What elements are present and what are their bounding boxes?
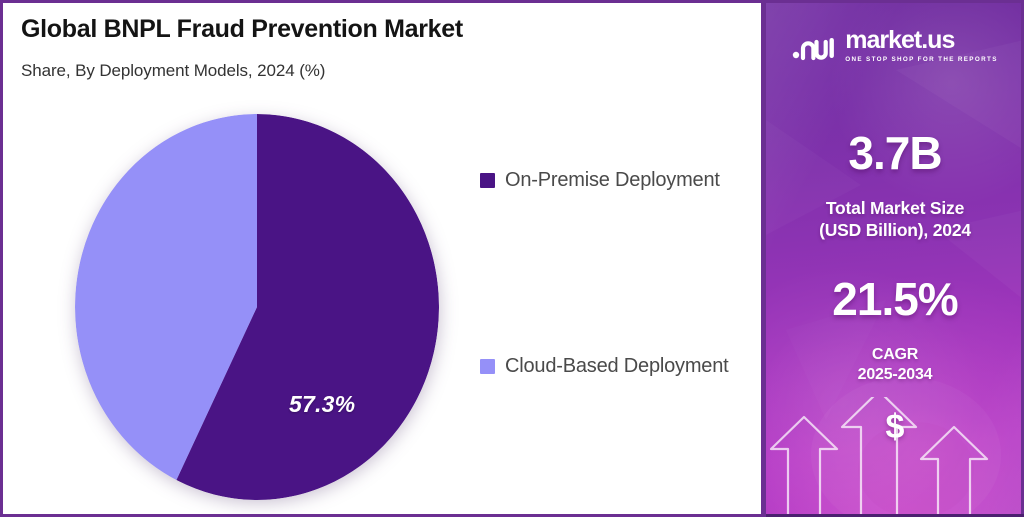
brand-logo[interactable]: market.us ONE STOP SHOP FOR THE REPORTS: [766, 28, 1024, 63]
brand-name: market.us: [845, 28, 954, 53]
pie-chart: 57.3%: [67, 108, 457, 504]
legend-label: Cloud-Based Deployment: [505, 355, 729, 378]
stats-panel: market.us ONE STOP SHOP FOR THE REPORTS …: [766, 0, 1024, 517]
page-title: Global BNPL Fraud Prevention Market: [21, 15, 463, 44]
page-subtitle: Share, By Deployment Models, 2024 (%): [21, 61, 325, 81]
pie-body: [75, 114, 439, 500]
stat-market-size-caption: Total Market Size (USD Billion), 2024: [766, 198, 1024, 242]
brand-text: market.us ONE STOP SHOP FOR THE REPORTS: [845, 28, 998, 63]
legend-item-cloud-based[interactable]: Cloud-Based Deployment: [480, 355, 729, 378]
caption-line-1: CAGR: [766, 345, 1024, 365]
stat-cagr-caption: CAGR 2025-2034: [766, 345, 1024, 385]
stat-market-size-value: 3.7B: [766, 130, 1024, 176]
pie-svg: [75, 114, 439, 500]
infographic-canvas: Global BNPL Fraud Prevention Market Shar…: [0, 0, 1024, 517]
caption-line-2: (USD Billion), 2024: [766, 220, 1024, 242]
legend-label: On-Premise Deployment: [505, 169, 720, 192]
brand-tagline: ONE STOP SHOP FOR THE REPORTS: [845, 56, 998, 63]
stat-cagr-value: 21.5%: [766, 276, 1024, 322]
legend-swatch-icon: [480, 173, 495, 188]
market-us-logo-icon: [792, 31, 836, 61]
panel-border-top: [766, 0, 1024, 3]
caption-line-2: 2025-2034: [766, 365, 1024, 385]
chart-panel: Global BNPL Fraud Prevention Market Shar…: [0, 0, 764, 517]
legend-swatch-icon: [480, 359, 495, 374]
pie-slice-label: 57.3%: [289, 391, 355, 418]
legend-item-on-premise[interactable]: On-Premise Deployment: [480, 169, 720, 192]
caption-line-1: Total Market Size: [766, 198, 1024, 220]
growth-arrows-icon: [766, 397, 1024, 517]
